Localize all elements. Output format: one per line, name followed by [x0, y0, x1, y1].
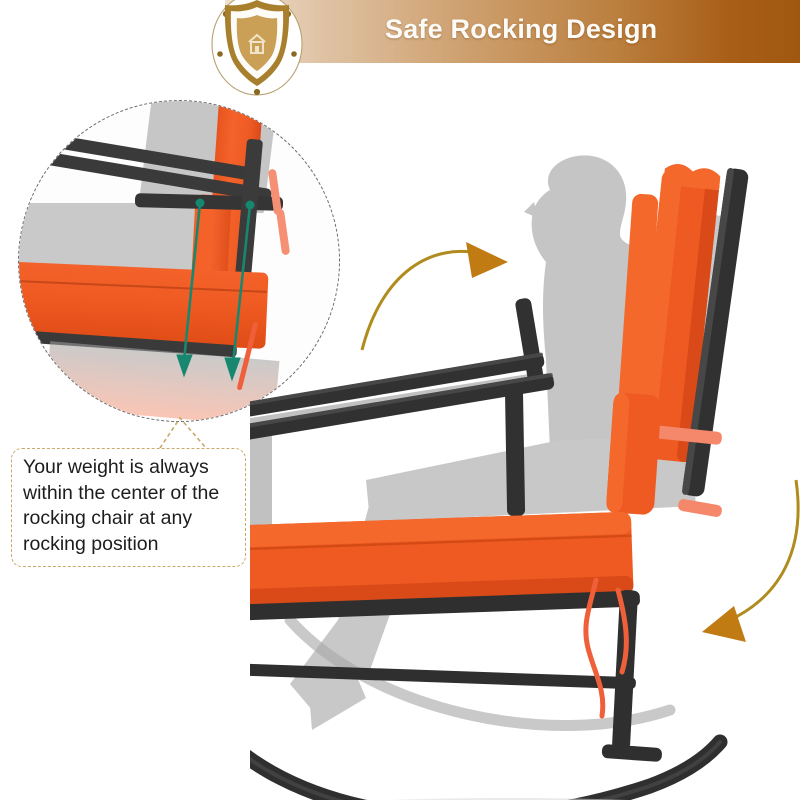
callout-box: Your weight is always within the center …: [11, 448, 246, 567]
rock-forward-arrow: [362, 242, 508, 350]
callout-text: Your weight is always within the center …: [23, 455, 235, 557]
rock-backward-arrow: [702, 480, 798, 642]
page-title: Safe Rocking Design: [385, 14, 657, 45]
lumbar-cushion: [606, 392, 662, 515]
cushion-strap-lower: [677, 498, 722, 517]
rocking-chair-illustration: [250, 150, 800, 800]
product-feature-image: Safe Rocking Design: [0, 0, 800, 800]
shield-badge-icon: [199, 0, 315, 96]
